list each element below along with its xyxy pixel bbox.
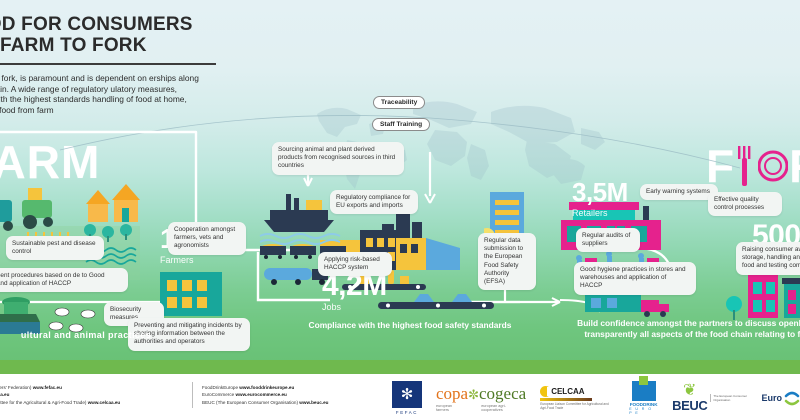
stat-jobs: 4,2M Jobs [322,272,387,313]
fork-letter-r: R [789,143,800,189]
copa-cogeca-subtitles: european farmers european agri-cooperati… [436,404,526,412]
stat-retailers-label: Retailers [572,208,628,219]
footer-column-right: FoodDrinkEurope www.fooddrinkeurope.eu E… [202,384,392,406]
logo-celcaa-sub: European Liaison Committee for Agricultu… [540,402,615,410]
logo-beuc-label: BEUC [672,398,707,413]
callout-awareness[interactable]: Raising consumer aware storage, handling… [736,242,800,275]
logo-celcaa[interactable]: CELCAA European Liaison Committee for Ag… [540,386,615,410]
callout-efsa[interactable]: Regular data submission to the European … [478,233,536,290]
statement-confidence: Build confidence amongst the partners to… [575,318,800,340]
footer-org-name: BEUC (The European Consumer Organisation… [202,400,298,405]
callout-regulatory[interactable]: Regulatory compliance for EU exports and… [330,190,418,214]
conveyor-belt-illustration [378,288,498,314]
logo-copa-label: copa [436,384,468,403]
callout-risk-management[interactable]: management procedures based on de to Goo… [0,268,128,292]
footer-row: ed Manufacturers' Federation) www.fefac.… [0,384,185,391]
footer-column-left: ed Manufacturers' Federation) www.fefac.… [0,384,185,406]
callout-sustainable-pest[interactable]: Sustainable pest and disease control [6,236,104,260]
fefac-emblem: ✻ [392,381,422,408]
title-divider [0,63,216,65]
stat-jobs-value: 4,2M [322,272,387,300]
page-title-line2: FARM TO FORK [0,35,260,56]
star-icon: ✼ [468,387,479,402]
logo-beuc[interactable]: ❦ BEUC The European Consumer Organisatio… [672,384,747,413]
stat-retailers: 3,5M Retailers [572,178,628,219]
footer-org-url[interactable]: www.beuc.eu [299,400,328,405]
statement-agricultural: ultural and animal practices [0,330,206,341]
fde-emblem [632,381,656,401]
footer-row: FoodDrinkEurope www.fooddrinkeurope.eu [202,384,392,391]
footer-org-name: EuroCommerce [202,392,234,397]
intro-paragraph: from farm to fork, is paramount and is d… [0,73,204,115]
pill-staff-training[interactable]: Staff Training [372,118,430,131]
footer-org-name: Liaison Committee for the Agricultural &… [0,400,86,405]
eu-star-icon: ✻ [401,387,414,402]
footer-org-url[interactable]: www.celcaa.eu [88,400,121,405]
infographic-canvas: FOOD FOR CONSUMERS FARM TO FORK from far… [0,0,800,420]
callout-sourcing[interactable]: Sourcing animal and plant derived produc… [272,142,404,175]
celcaa-underbar [540,398,592,401]
callout-cooperation[interactable]: Cooperation amongst farmers, vets and ag… [168,222,246,255]
callout-haccp-risk[interactable]: Applying risk-based HACCP system [318,252,392,276]
footer-org-url[interactable]: www.eurocommerce.eu [235,392,286,397]
stat-jobs-label: Jobs [322,302,387,313]
callout-quality-control[interactable]: Effective quality control processes [708,192,782,216]
logo-copa-cogeca[interactable]: copa✼cogeca european farmers european ag… [436,385,526,412]
footer-org-url[interactable]: w.copa-cogeca.eu [0,392,9,397]
footer-org-url[interactable]: www.fooddrinkeurope.eu [239,385,294,390]
logo-cogeca-sub: european agri-cooperatives [481,404,526,412]
cooperative-building-illustration [158,268,228,320]
logo-beuc-sub: The European Consumer Organisation [710,394,747,402]
logo-celcaa-label: CELCAA [547,387,584,396]
copa-cogeca-wordmark: copa✼cogeca [436,385,526,403]
logo-eurocommerce[interactable]: Euro [761,390,800,406]
statement-compliance: Compliance with the highest food safety … [280,320,540,331]
footer-divider [192,382,193,408]
plate-icon [758,142,788,190]
stat-farmers-label: Farmers [160,255,213,266]
logo-fde-sub: E U R O P E [629,407,658,415]
footer-row: w.copa-cogeca.eu [0,391,185,398]
green-divider-band [0,360,800,374]
partner-logo-strip: ✻ FEFAC copa✼cogeca european farmers eur… [392,378,800,418]
header-block: FOOD FOR CONSUMERS FARM TO FORK from far… [0,14,260,115]
callout-early-warning[interactable]: Early warning systems [640,184,718,200]
footer-org-url[interactable]: www.fefac.eu [33,385,62,390]
celcaa-wordmark: CELCAA [540,386,584,397]
footer-org-name: ed Manufacturers' Federation) [0,385,31,390]
footer-row: Liaison Committee for the Agricultural &… [0,399,185,406]
logo-eurocommerce-label: Euro [761,393,782,403]
callout-audits[interactable]: Regular audits of suppliers [576,228,640,252]
wordmark-fork: F R [706,142,800,190]
footer-row: EuroCommerce www.eurocommerce.eu [202,391,392,398]
footer-org-name: FoodDrinkEurope [202,385,238,390]
plus-icon [639,376,648,385]
fork-icon [735,142,757,190]
logo-cogeca-label: cogeca [479,384,526,403]
logo-fefac-label: FEFAC [396,410,418,415]
page-title-line1: FOOD FOR CONSUMERS [0,14,260,35]
pill-traceability[interactable]: Traceability [373,96,425,109]
logo-fooddrinkeurope[interactable]: FOODDRINK E U R O P E [629,381,658,415]
stat-retailers-value: 3,5M [572,178,628,206]
footer-row: BEUC (The European Consumer Organisation… [202,399,392,406]
tulip-icon: ❦ [683,384,696,398]
logo-copa-sub: european farmers [436,404,465,412]
callout-hygiene[interactable]: Good hygiene practices in stores and war… [574,262,696,295]
eurocommerce-swoosh-icon [784,390,800,406]
logo-fefac[interactable]: ✻ FEFAC [392,381,422,415]
fork-letter-f: F [706,143,734,189]
